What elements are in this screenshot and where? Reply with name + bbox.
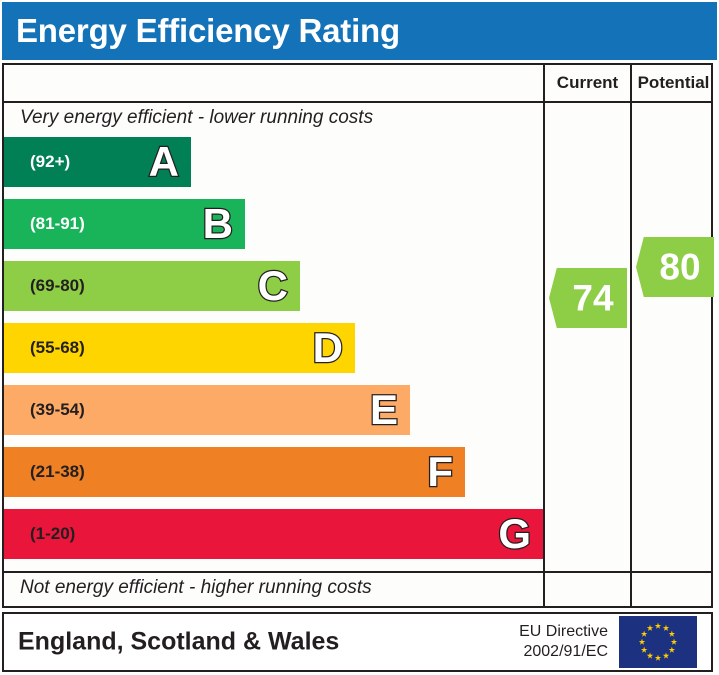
band-range-f: (21-38) — [30, 462, 85, 482]
footer-divider — [4, 571, 711, 573]
eu-directive-label: EU Directive 2002/91/EC — [519, 622, 608, 662]
footer-bar: England, Scotland & Wales EU Directive 2… — [2, 612, 713, 672]
band-letter-f: F — [427, 451, 453, 493]
band-g: (1-20)G — [4, 509, 543, 559]
band-letter-g: G — [498, 513, 531, 555]
page-title: Energy Efficiency Rating — [16, 12, 400, 50]
rating-table: Current Potential Very energy efficient … — [2, 63, 713, 608]
current-column-divider — [543, 65, 545, 606]
band-range-a: (92+) — [30, 152, 70, 172]
potential-column-divider — [630, 65, 632, 606]
rating-value-current: 74 — [549, 280, 627, 317]
band-range-b: (81-91) — [30, 214, 85, 234]
band-f: (21-38)F — [4, 447, 465, 497]
energy-efficiency-certificate: Energy Efficiency Rating Current Potenti… — [0, 0, 719, 675]
eu-directive-line1: EU Directive — [519, 622, 608, 642]
band-letter-e: E — [370, 389, 398, 431]
column-header-potential: Potential — [632, 65, 715, 101]
band-range-e: (39-54) — [30, 400, 85, 420]
column-header-current: Current — [545, 65, 630, 101]
rating-arrow-current: 74 — [549, 268, 627, 328]
band-letter-c: C — [258, 265, 288, 307]
band-d: (55-68)D — [4, 323, 355, 373]
band-c: (69-80)C — [4, 261, 300, 311]
caption-not-efficient: Not energy efficient - higher running co… — [20, 577, 372, 599]
band-e: (39-54)E — [4, 385, 410, 435]
caption-very-efficient: Very energy efficient - lower running co… — [20, 107, 373, 129]
band-b: (81-91)B — [4, 199, 245, 249]
rating-value-potential: 80 — [636, 249, 714, 286]
band-a: (92+)A — [4, 137, 191, 187]
eu-flag-icon — [619, 616, 697, 668]
eu-directive-line2: 2002/91/EC — [519, 642, 608, 662]
title-bar: Energy Efficiency Rating — [2, 2, 717, 60]
footer-region-label: England, Scotland & Wales — [18, 628, 339, 657]
header-divider — [4, 101, 711, 103]
band-letter-a: A — [149, 141, 179, 183]
band-list: (92+)A(81-91)B(69-80)C(55-68)D(39-54)E(2… — [4, 137, 543, 569]
band-range-g: (1-20) — [30, 524, 75, 544]
band-range-c: (69-80) — [30, 276, 85, 296]
band-letter-b: B — [203, 203, 233, 245]
band-range-d: (55-68) — [30, 338, 85, 358]
rating-arrow-potential: 80 — [636, 237, 714, 297]
band-letter-d: D — [313, 327, 343, 369]
